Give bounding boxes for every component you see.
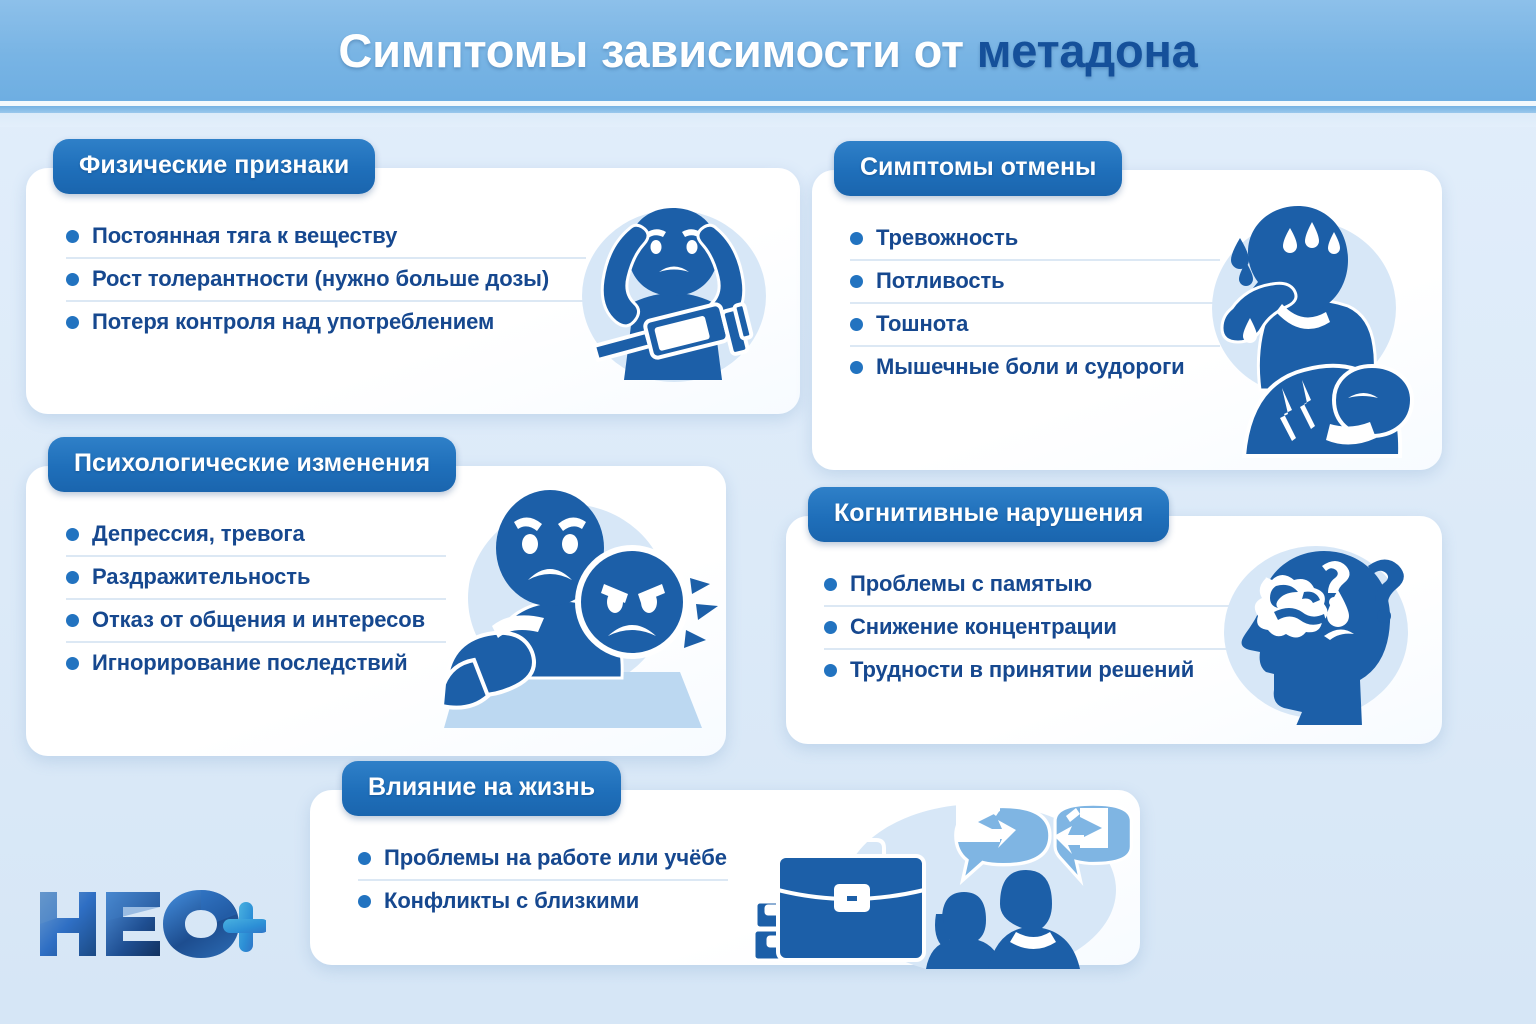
brand-logo: [36, 886, 266, 962]
card-life-impact-list: Проблемы на работе или учёбе Конфликты с…: [358, 838, 728, 922]
bullet-dot-icon: [66, 273, 79, 286]
list-item: Отказ от общения и интересов: [66, 598, 446, 641]
list-item-label: Раздражительность: [92, 564, 310, 590]
list-item: Потливость: [850, 259, 1220, 302]
bullet-dot-icon: [850, 275, 863, 288]
card-cognitive-impairment-header: Когнитивные нарушения: [808, 487, 1169, 542]
list-item: Раздражительность: [66, 555, 446, 598]
bullet-dot-icon: [850, 361, 863, 374]
bullet-dot-icon: [824, 578, 837, 591]
list-item-label: Конфликты с близкими: [384, 888, 639, 914]
list-item: Проблемы на работе или учёбе: [358, 838, 728, 879]
header-divider-blue: [0, 106, 1536, 113]
list-item-label: Проблемы на работе или учёбе: [384, 845, 727, 871]
bullet-dot-icon: [358, 852, 371, 865]
list-item-label: Проблемы с памятыю: [850, 571, 1092, 597]
card-cognitive-impairment-list: Проблемы с памятыю Снижение концентрации…: [824, 564, 1234, 691]
list-item: Тревожность: [850, 218, 1220, 259]
bullet-dot-icon: [850, 318, 863, 331]
card-life-impact-header: Влияние на жизнь: [342, 761, 621, 816]
card-withdrawal-symptoms: Симптомы отмены Тревожность Потливость Т…: [812, 170, 1442, 470]
card-cognitive-impairment-title: Когнитивные нарушения: [834, 499, 1143, 528]
list-item-label: Мышечные боли и судороги: [876, 354, 1185, 380]
card-psychological-changes-list: Депрессия, тревога Раздражительность Отк…: [66, 514, 446, 684]
card-withdrawal-symptoms-header: Симптомы отмены: [834, 141, 1122, 196]
bullet-dot-icon: [358, 895, 371, 908]
list-item: Рост толерантности (нужно больше дозы): [66, 257, 586, 300]
list-item: Депрессия, тревога: [66, 514, 446, 555]
list-item: Потеря контроля над употреблением: [66, 300, 586, 343]
card-physical-signs: Физические признаки Постоянная тяга к ве…: [26, 168, 800, 414]
sad-person-with-angry-face-icon: [440, 486, 720, 736]
bullet-dot-icon: [66, 571, 79, 584]
card-withdrawal-symptoms-list: Тревожность Потливость Тошнота Мышечные …: [850, 218, 1220, 388]
list-item-label: Рост толерантности (нужно больше дозы): [92, 266, 549, 292]
list-item-label: Отказ от общения и интересов: [92, 607, 425, 633]
card-physical-signs-title: Физические признаки: [79, 151, 349, 180]
bullet-dot-icon: [824, 664, 837, 677]
list-item-label: Потеря контроля над употреблением: [92, 309, 494, 335]
page-title-main: Симптомы зависимости от: [338, 24, 976, 77]
bullet-dot-icon: [66, 230, 79, 243]
list-item: Конфликты с близкими: [358, 879, 728, 922]
header-divider-fade: [0, 113, 1536, 127]
card-cognitive-impairment: Когнитивные нарушения Проблемы с памятыю…: [786, 516, 1442, 744]
bullet-dot-icon: [824, 621, 837, 634]
list-item: Проблемы с памятыю: [824, 564, 1234, 605]
stressed-person-with-syringe-icon: [556, 190, 786, 395]
page-header: Симптомы зависимости от метадона: [0, 0, 1536, 101]
card-physical-signs-header: Физические признаки: [53, 139, 375, 194]
card-life-impact-title: Влияние на жизнь: [368, 773, 595, 802]
list-item-label: Тревожность: [876, 225, 1018, 251]
list-item: Трудности в принятии решений: [824, 648, 1234, 691]
bullet-dot-icon: [850, 232, 863, 245]
list-item: Постоянная тяга к веществу: [66, 216, 586, 257]
list-item-label: Трудности в принятии решений: [850, 657, 1194, 683]
list-item-label: Постоянная тяга к веществу: [92, 223, 397, 249]
list-item-label: Тошнота: [876, 311, 968, 337]
card-physical-signs-list: Постоянная тяга к веществу Рост толерант…: [66, 216, 586, 343]
briefcase-books-and-arguing-people-icon: [754, 794, 1134, 969]
list-item-label: Игнорирование последствий: [92, 650, 408, 676]
card-psychological-changes-header: Психологические изменения: [48, 437, 456, 492]
card-psychological-changes: Психологические изменения Депрессия, тре…: [26, 466, 726, 756]
list-item: Игнорирование последствий: [66, 641, 446, 684]
list-item-label: Депрессия, тревога: [92, 521, 305, 547]
card-life-impact: Влияние на жизнь Проблемы на работе или …: [310, 790, 1140, 965]
bullet-dot-icon: [66, 528, 79, 541]
sweating-person-with-cramps-icon: [1186, 200, 1436, 460]
card-withdrawal-symptoms-title: Симптомы отмены: [860, 153, 1096, 182]
page-title: Симптомы зависимости от метадона: [338, 23, 1197, 78]
head-with-brain-and-question-marks-icon: [1218, 540, 1418, 725]
list-item: Мышечные боли и судороги: [850, 345, 1220, 388]
bullet-dot-icon: [66, 614, 79, 627]
bullet-dot-icon: [66, 657, 79, 670]
card-psychological-changes-title: Психологические изменения: [74, 449, 430, 478]
bullet-dot-icon: [66, 316, 79, 329]
list-item-label: Потливость: [876, 268, 1005, 294]
list-item: Тошнота: [850, 302, 1220, 345]
page-title-accent: метадона: [977, 24, 1198, 77]
list-item-label: Снижение концентрации: [850, 614, 1117, 640]
list-item: Снижение концентрации: [824, 605, 1234, 648]
